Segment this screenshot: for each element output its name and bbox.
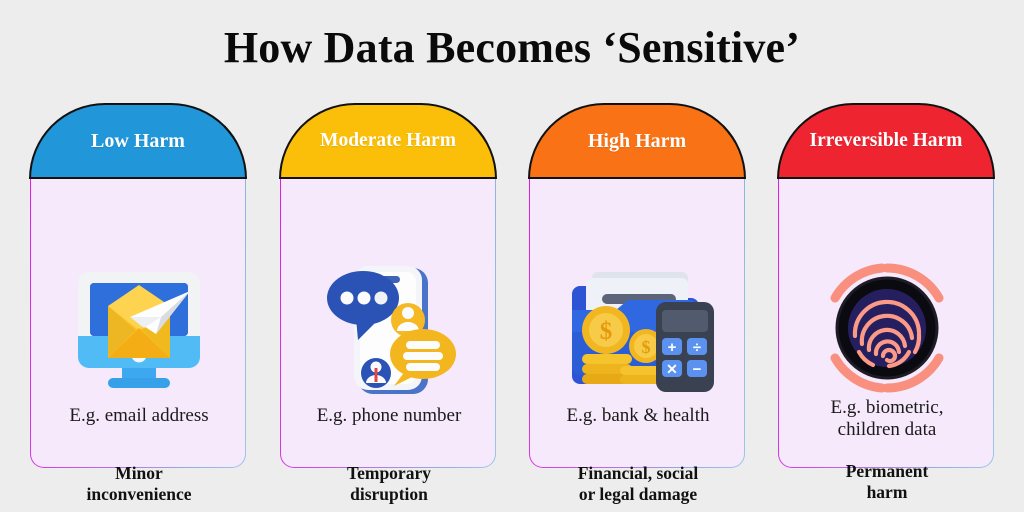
- phone-chat-icon: [281, 253, 497, 403]
- card-header-high-harm[interactable]: High Harm: [528, 103, 746, 179]
- card-example-text: E.g. phone number: [285, 405, 493, 427]
- card-header-label: Moderate Harm: [310, 130, 466, 152]
- svg-text:$: $: [642, 337, 651, 357]
- example-line-2: children data: [783, 419, 991, 441]
- card-header-label: High Harm: [578, 130, 696, 152]
- card-impact-text: Temporary disruption: [285, 463, 493, 505]
- card-header-irreversible-harm[interactable]: Irreversible Harm: [777, 103, 995, 179]
- card-header-label: Low Harm: [81, 130, 195, 152]
- folder-coins-calculator-icon: $ $ + ÷ ✕ −: [530, 253, 746, 403]
- card-body: $ $ + ÷ ✕ − E.g.: [529, 175, 745, 468]
- card-irreversible-harm[interactable]: E.g. biometric, children data Permanent …: [777, 103, 995, 469]
- card-impact-text: Minor inconvenience: [35, 463, 243, 505]
- page-title: How Data Becomes ‘Sensitive’: [0, 22, 1024, 73]
- impact-line-1: Permanent: [783, 461, 991, 482]
- impact-line-1: Minor: [35, 463, 243, 484]
- card-body: E.g. email address Minor inconvenience: [30, 175, 246, 468]
- fingerprint-scanner-icon: [779, 253, 995, 403]
- card-header-low-harm[interactable]: Low Harm: [29, 103, 247, 179]
- card-header-label: Irreversible Harm: [800, 130, 973, 152]
- example-line-1: E.g. biometric,: [783, 397, 991, 419]
- impact-line-2: inconvenience: [35, 484, 243, 505]
- card-impact-text: Financial, social or legal damage: [534, 463, 742, 505]
- svg-text:−: −: [693, 361, 702, 378]
- impact-line-2: disruption: [285, 484, 493, 505]
- card-example-text: E.g. email address: [35, 405, 243, 427]
- monitor-envelope-icon: [31, 253, 247, 403]
- card-body: E.g. phone number Temporary disruption: [280, 175, 496, 468]
- card-high-harm[interactable]: $ $ + ÷ ✕ − E.g.: [528, 103, 746, 469]
- card-body: E.g. biometric, children data Permanent …: [778, 175, 994, 468]
- impact-line-2: harm: [783, 482, 991, 503]
- card-example-text: E.g. biometric, children data: [783, 397, 991, 442]
- card-impact-text: Permanent harm: [783, 461, 991, 503]
- card-example-text: E.g. bank & health: [534, 405, 742, 427]
- svg-text:$: $: [600, 318, 613, 345]
- card-moderate-harm[interactable]: E.g. phone number Temporary disruption M…: [279, 103, 497, 469]
- card-low-harm[interactable]: E.g. email address Minor inconvenience L…: [29, 103, 247, 469]
- card-header-moderate-harm[interactable]: Moderate Harm: [279, 103, 497, 179]
- svg-text:✕: ✕: [666, 361, 678, 377]
- harm-level-cards: E.g. email address Minor inconvenience L…: [0, 103, 1024, 473]
- svg-text:+: +: [668, 339, 677, 356]
- impact-line-1: Financial, social: [534, 463, 742, 484]
- svg-text:÷: ÷: [693, 339, 701, 356]
- impact-line-1: Temporary: [285, 463, 493, 484]
- impact-line-2: or legal damage: [534, 484, 742, 505]
